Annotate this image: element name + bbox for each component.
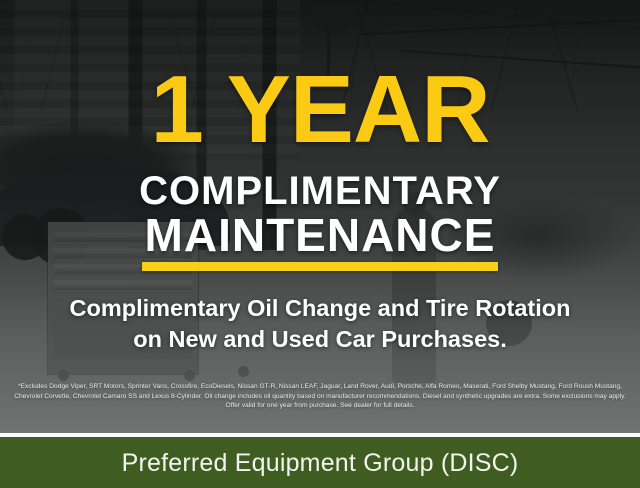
promo-copy-block: 1 YEAR COMPLIMENTARY MAINTENANCE Complim…: [0, 0, 640, 433]
tagline-line-2: on New and Used Car Purchases.: [20, 324, 620, 355]
disclaimer-fine-print: *Excludes Dodge Viper, SRT Motors, Sprin…: [12, 382, 628, 411]
yellow-divider-rule: [142, 262, 498, 271]
equipment-group-footer-bar: Preferred Equipment Group (DISC): [0, 437, 640, 488]
headline-year: 1 YEAR: [0, 62, 640, 158]
headline-complimentary: COMPLIMENTARY: [0, 170, 640, 212]
headline-maintenance: MAINTENANCE: [0, 211, 640, 259]
promo-hero-image: 1 YEAR COMPLIMENTARY MAINTENANCE Complim…: [0, 0, 640, 433]
tagline-line-1: Complimentary Oil Change and Tire Rotati…: [20, 293, 620, 324]
promo-tagline: Complimentary Oil Change and Tire Rotati…: [20, 293, 620, 355]
promotional-banner: 1 YEAR COMPLIMENTARY MAINTENANCE Complim…: [0, 0, 640, 488]
equipment-group-title: Preferred Equipment Group (DISC): [122, 448, 519, 478]
